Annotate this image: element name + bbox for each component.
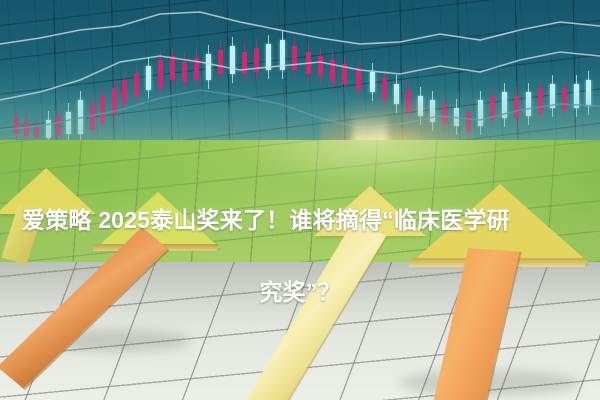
wedge-arrow-head [0,168,96,214]
candlestick-chart-backdrop [0,0,600,152]
banner-image: 爱策略 2025泰山奖来了！谁将摘得“临床医学研 究奖”？ [0,0,600,400]
ma-upper [0,12,600,44]
